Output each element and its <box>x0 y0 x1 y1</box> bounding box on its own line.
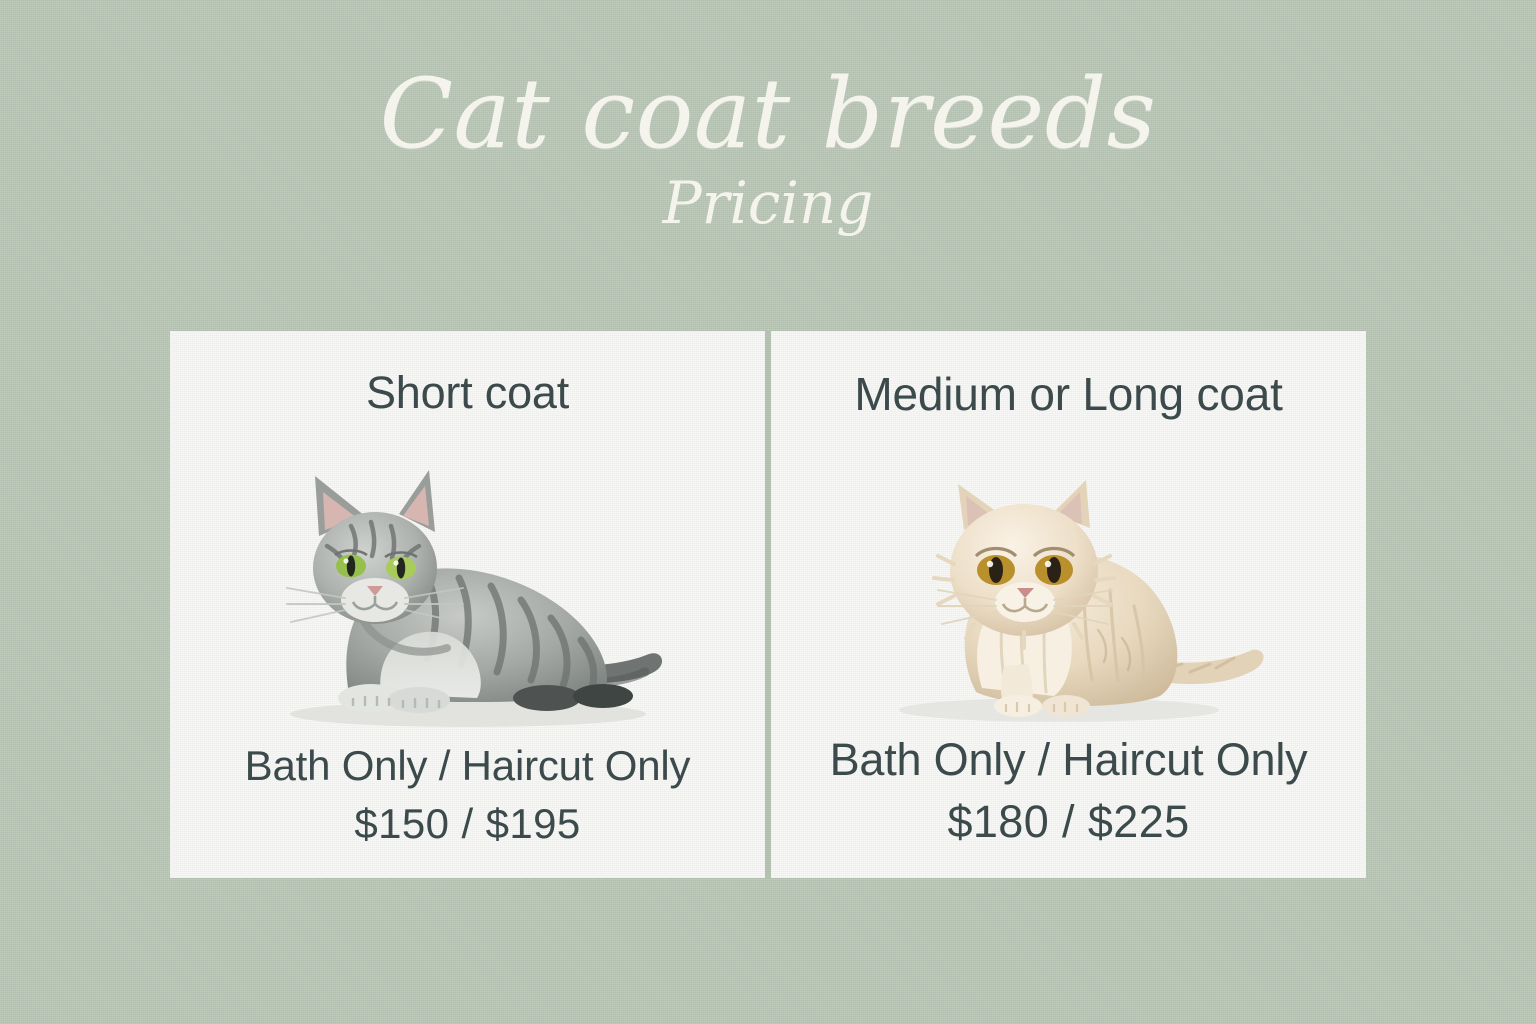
pricing-card-short-coat[interactable]: Short coat <box>170 331 765 878</box>
page-subtitle: Pricing <box>0 174 1536 232</box>
long-hair-persian-cat-icon <box>854 434 1284 734</box>
pricing-poster: Cat coat breeds Pricing Short coat <box>0 0 1536 1024</box>
services-label-medium-long-coat: Bath Only / Haircut Only <box>830 734 1308 786</box>
pricing-block-short-coat: Bath Only / Haircut Only $150 / $195 <box>245 742 691 878</box>
cat-photo-medium-long-coat <box>771 421 1366 734</box>
pricing-card-medium-long-coat[interactable]: Medium or Long coat <box>771 331 1366 878</box>
poster-heading: Cat coat breeds Pricing <box>0 66 1536 232</box>
pricing-cards-panel: Short coat <box>170 331 1366 878</box>
prices-label-short-coat: $150 / $195 <box>245 800 691 848</box>
short-hair-tabby-cat-icon <box>253 442 683 742</box>
prices-label-medium-long-coat: $180 / $225 <box>830 796 1308 848</box>
cat-photo-short-coat <box>170 419 765 742</box>
services-label-short-coat: Bath Only / Haircut Only <box>245 742 691 790</box>
page-title: Cat coat breeds <box>0 66 1536 164</box>
card-heading-medium-long-coat: Medium or Long coat <box>854 367 1282 421</box>
pricing-block-medium-long-coat: Bath Only / Haircut Only $180 / $225 <box>830 734 1308 878</box>
card-heading-short-coat: Short coat <box>366 367 569 419</box>
